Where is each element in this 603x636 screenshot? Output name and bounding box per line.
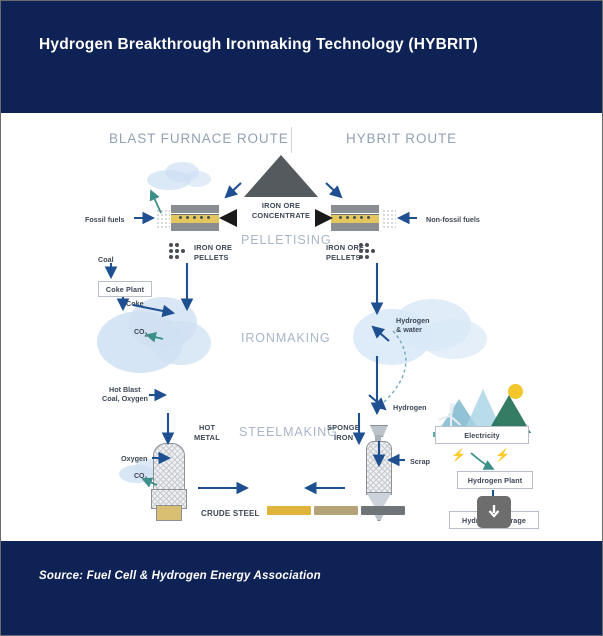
- label-hydrogen-water-line1: Hydrogen: [396, 316, 430, 325]
- electricity-box: Electricity: [435, 426, 529, 444]
- label-iron-ore-pellets-left-line1: IRON ORE: [194, 243, 232, 252]
- label-non-fossil-fuels: Non-fossil fuels: [426, 215, 480, 224]
- label-coke: Coke: [126, 299, 144, 308]
- label-hot-blast-line1: Hot Blast: [109, 385, 141, 394]
- label-co2-steelmaking: CO2: [134, 473, 147, 482]
- label-hot-metal-line1: HOT: [199, 423, 215, 432]
- download-arrow-icon: [487, 504, 501, 520]
- footer-banner: Source: Fuel Cell & Hydrogen Energy Asso…: [1, 541, 603, 636]
- label-hot-blast-line2: Coal, Oxygen: [102, 394, 148, 403]
- download-button[interactable]: [477, 496, 511, 528]
- label-sponge-iron-line1: SPONGE: [327, 423, 360, 432]
- pelletiser-left: [171, 205, 219, 231]
- stage-label-pelletising: PELLETISING: [241, 233, 332, 247]
- label-iron-ore-pellets-right-line2: PELLETS: [326, 253, 361, 262]
- lightning-bolt-icon-a: ⚡: [451, 449, 466, 461]
- label-oxygen: Oxygen: [121, 454, 147, 463]
- hydrogen-cloud-c: [421, 319, 487, 359]
- diagram-panel: BLAST FURNACE ROUTE HYBRIT ROUTE IRON OR…: [1, 113, 603, 541]
- route-heading-hybrit: HYBRIT ROUTE: [346, 131, 457, 146]
- label-crude-steel: CRUDE STEEL: [201, 509, 260, 519]
- blast-furnace: [151, 443, 185, 521]
- label-iron-ore-pellets-left-line2: PELLETS: [194, 253, 229, 262]
- stage-label-ironmaking: IRONMAKING: [241, 331, 331, 345]
- fuel-particles-right: [382, 209, 396, 229]
- label-hydrogen-water-line2: & water: [396, 325, 422, 334]
- label-hot-metal-line2: METAL: [194, 433, 220, 442]
- label-hydrogen: Hydrogen: [393, 403, 427, 412]
- iron-ore-pellets-icon-left: [169, 243, 189, 259]
- label-coal: Coal: [98, 255, 114, 264]
- crude-steel-slab-cold: [361, 506, 405, 515]
- pelletiser-right: [331, 205, 379, 231]
- label-iron-ore-concentrate-line2: CONCENTRATE: [237, 211, 325, 220]
- page-title: Hydrogen Breakthrough Ironmaking Technol…: [39, 33, 559, 57]
- co2-cloud-ironmaking-c: [151, 321, 211, 365]
- source-attribution: Source: Fuel Cell & Hydrogen Energy Asso…: [39, 570, 321, 582]
- hydrogen-plant-box: Hydrogen Plant: [457, 471, 533, 489]
- crude-steel-slab-warm: [314, 506, 358, 515]
- stage-label-steelmaking: STEELMAKING: [239, 425, 338, 439]
- route-heading-blast-furnace: BLAST FURNACE ROUTE: [109, 131, 289, 146]
- lightning-bolt-icon-b: ⚡: [495, 449, 510, 461]
- label-scrap: Scrap: [410, 457, 430, 466]
- fuel-particles-left: [156, 209, 170, 229]
- label-fossil-fuels: Fossil fuels: [85, 215, 125, 224]
- iron-ore-concentrate-triangle: [244, 155, 318, 197]
- route-divider: [291, 127, 292, 153]
- header-banner: Hydrogen Breakthrough Ironmaking Technol…: [1, 1, 603, 113]
- co2-cloud-left-top-c: [183, 171, 211, 187]
- infographic-page: Hydrogen Breakthrough Ironmaking Technol…: [0, 0, 603, 636]
- label-sponge-iron-line2: IRON: [334, 433, 353, 442]
- coke-plant-box: Coke Plant: [98, 281, 152, 297]
- crude-steel-slab-hot: [267, 506, 311, 515]
- label-iron-ore-concentrate-line1: IRON ORE: [241, 201, 321, 210]
- label-co2-ironmaking: CO2: [134, 329, 147, 338]
- label-iron-ore-pellets-right-line1: IRON ORE: [326, 243, 364, 252]
